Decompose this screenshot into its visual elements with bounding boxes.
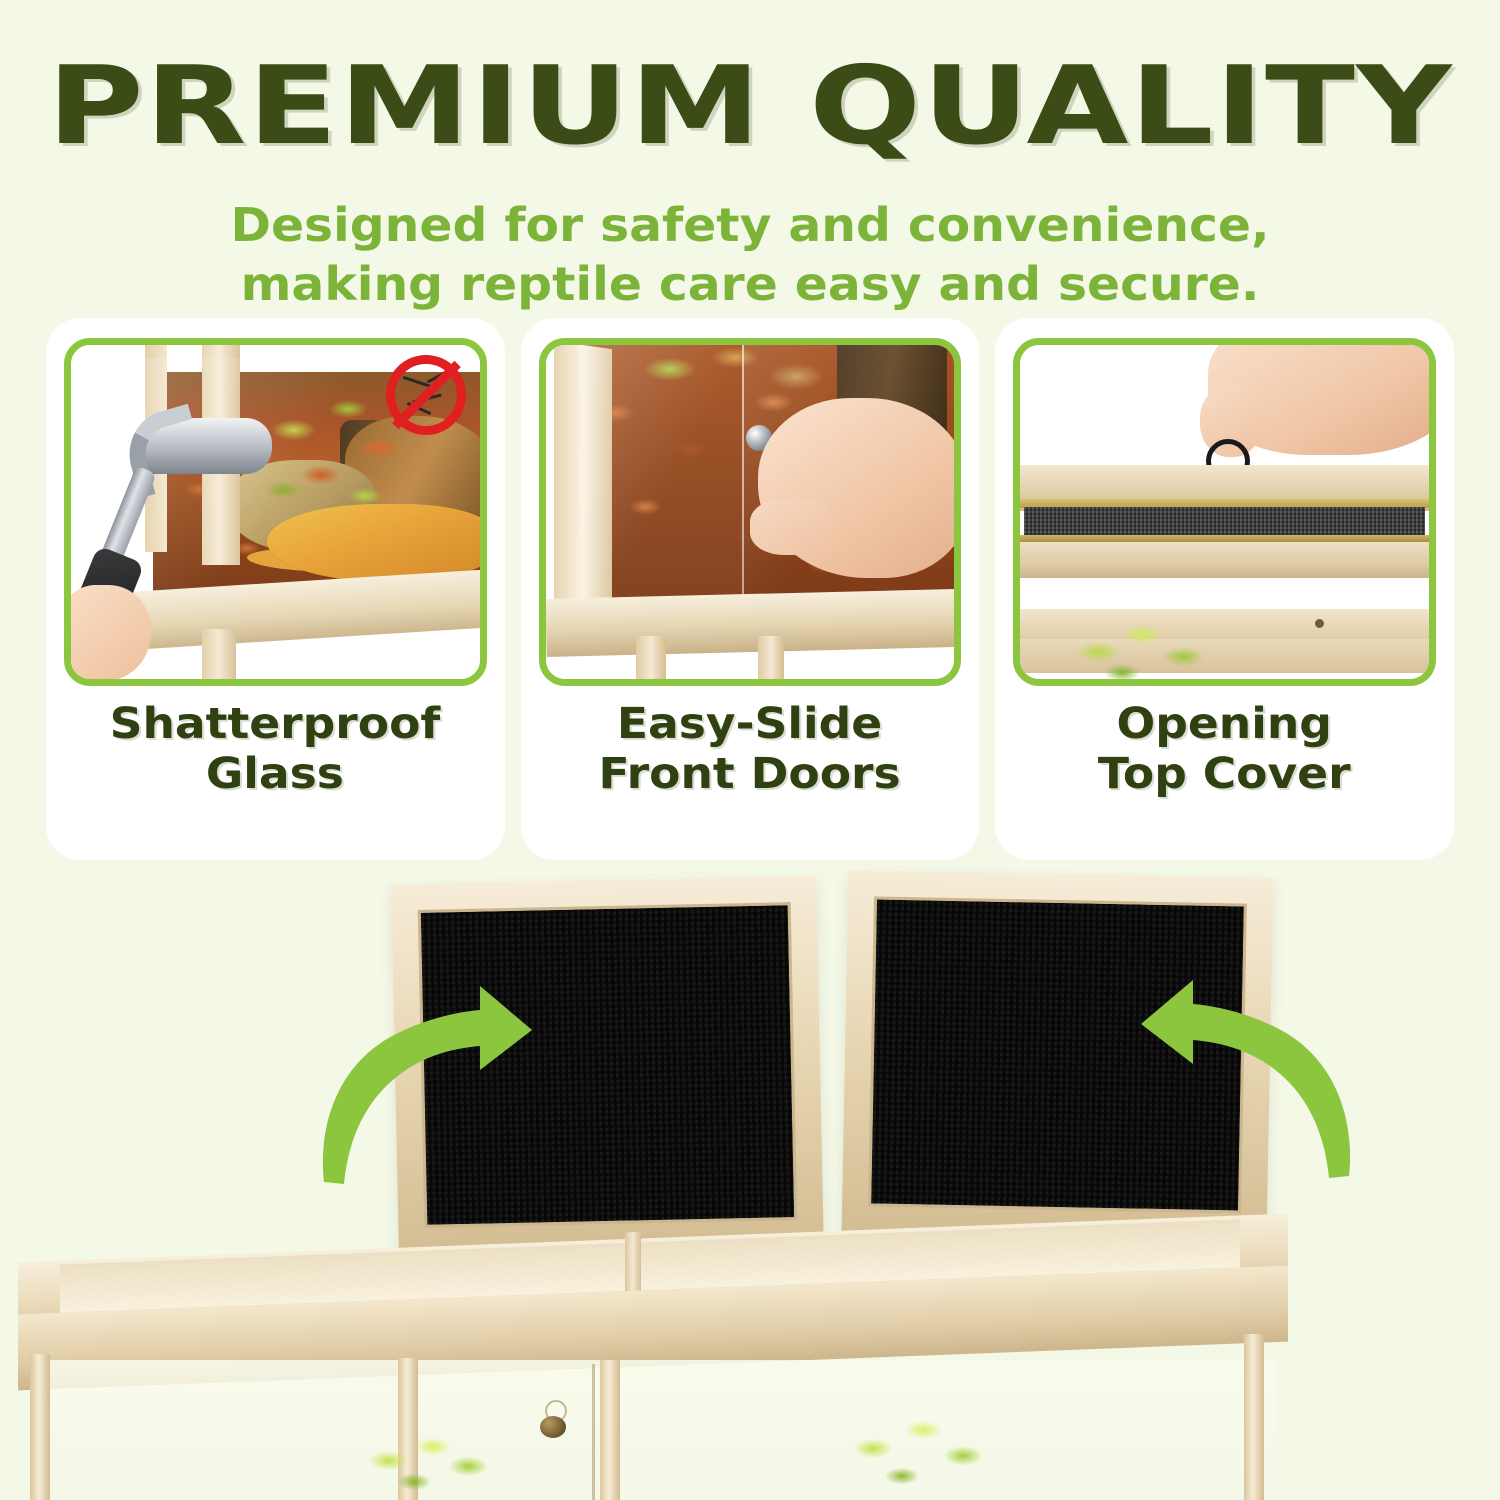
feature-photo-shatterproof-glass [64, 338, 487, 686]
artificial-plant-left [350, 1430, 510, 1500]
swoosh-arrow-right-icon [318, 978, 538, 1188]
enclosure-post-mid-right [600, 1360, 620, 1500]
feature-label-line-1: Easy-Slide [599, 700, 901, 750]
wood-leg [202, 629, 236, 686]
feature-label-opening-top-cover: Opening Top Cover [1098, 700, 1351, 800]
feature-label-line-2: Top Cover [1098, 750, 1351, 800]
feature-card-opening-top-cover: Opening Top Cover [995, 318, 1454, 860]
swoosh-arrow-left-icon [1135, 972, 1355, 1182]
thumb [750, 499, 834, 555]
page-title: PREMIUM QUALITY [0, 52, 1500, 162]
subtitle-line-2: making reptile care easy and secure. [0, 255, 1500, 314]
feature-label-line-2: Front Doors [599, 750, 901, 800]
no-crack-icon [386, 355, 466, 435]
feature-photo-easy-slide-front-doors [539, 338, 962, 686]
wood-bottom-rail [545, 589, 955, 657]
infographic-root: PREMIUM QUALITY Designed for safety and … [0, 0, 1500, 1500]
artificial-plant-right [830, 1408, 1010, 1500]
feature-card-shatterproof-glass: Shatterproof Glass [46, 318, 505, 860]
subtitle-line-1: Designed for safety and convenience, [0, 196, 1500, 255]
feature-label-easy-slide-front-doors: Easy-Slide Front Doors [599, 700, 901, 800]
feature-photo-opening-top-cover [1013, 338, 1436, 686]
artificial-plant [1061, 612, 1231, 686]
enclosure-center-divider [625, 1232, 641, 1295]
door-lock-knob [540, 1416, 566, 1438]
wood-rail-below [1020, 542, 1429, 578]
hero-product-photo [0, 860, 1500, 1500]
feature-label-shatterproof-glass: Shatterproof Glass [110, 700, 441, 800]
screw-hole [1315, 619, 1324, 628]
feature-label-line-1: Shatterproof [110, 700, 441, 750]
wood-leg-left [636, 636, 666, 686]
feature-card-row: Shatterproof Glass [46, 318, 1454, 860]
feature-card-easy-slide-front-doors: Easy-Slide Front Doors [521, 318, 980, 860]
page-subtitle: Designed for safety and convenience, mak… [0, 196, 1500, 314]
wood-leg-right [758, 636, 784, 686]
mesh-screen-edge [1024, 507, 1425, 537]
feature-label-line-1: Opening [1098, 700, 1351, 750]
enclosure-glass-front [34, 1360, 1277, 1500]
feature-label-line-2: Glass [110, 750, 441, 800]
enclosure-post-right [1244, 1334, 1264, 1500]
enclosure-post-left [30, 1354, 50, 1500]
sliding-door-seam [592, 1364, 595, 1500]
glass-door-left [578, 345, 743, 606]
